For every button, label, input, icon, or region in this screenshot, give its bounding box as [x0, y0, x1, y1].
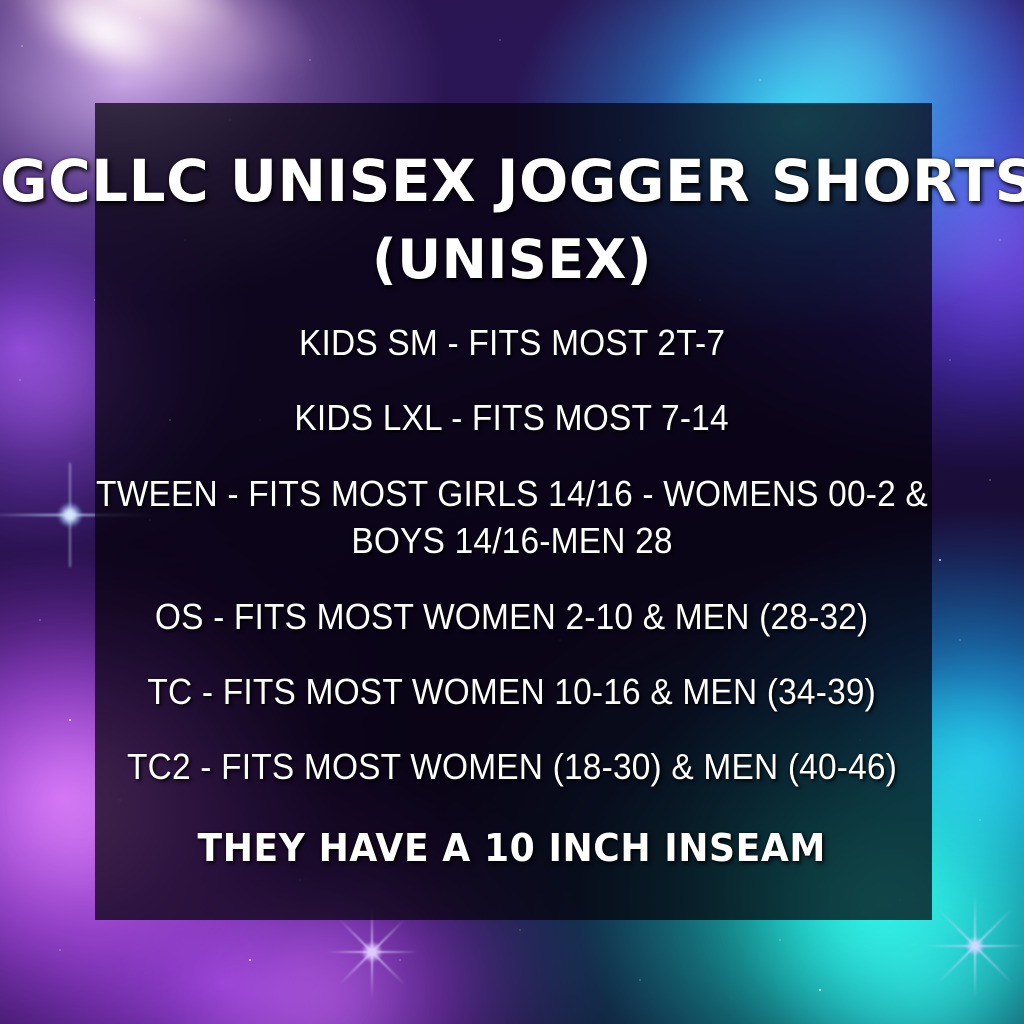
size-chart-list: KIDS SM - FITS MOST 2T-7 KIDS LXL - FITS…: [0, 321, 1024, 820]
size-row-tween: TWEEN - FITS MOST GIRLS 14/16 - WOMENS 0…: [94, 471, 931, 565]
size-row-os: OS - FITS MOST WOMEN 2-10 & MEN (28-32): [155, 595, 869, 639]
inseam-note: THEY HAVE A 10 INCH INSEAM: [198, 826, 826, 870]
size-row-tc2: TC2 - FITS MOST WOMEN (18-30) & MEN (40-…: [127, 745, 897, 789]
size-row-kids-sm: KIDS SM - FITS MOST 2T-7: [299, 321, 725, 365]
title-line-1: GCLLC UNISEX JOGGER SHORTS: [0, 140, 1024, 222]
text-content: GCLLC UNISEX JOGGER SHORTS (UNISEX) KIDS…: [0, 0, 1024, 1024]
title-line-2: (UNISEX): [0, 222, 1024, 299]
sizing-chart-graphic: GCLLC UNISEX JOGGER SHORTS (UNISEX) KIDS…: [0, 0, 1024, 1024]
size-row-tc: TC - FITS MOST WOMEN 10-16 & MEN (34-39): [148, 670, 877, 714]
page-title: GCLLC UNISEX JOGGER SHORTS (UNISEX): [0, 140, 1024, 299]
size-row-kids-lxl: KIDS LXL - FITS MOST 7-14: [295, 396, 729, 440]
